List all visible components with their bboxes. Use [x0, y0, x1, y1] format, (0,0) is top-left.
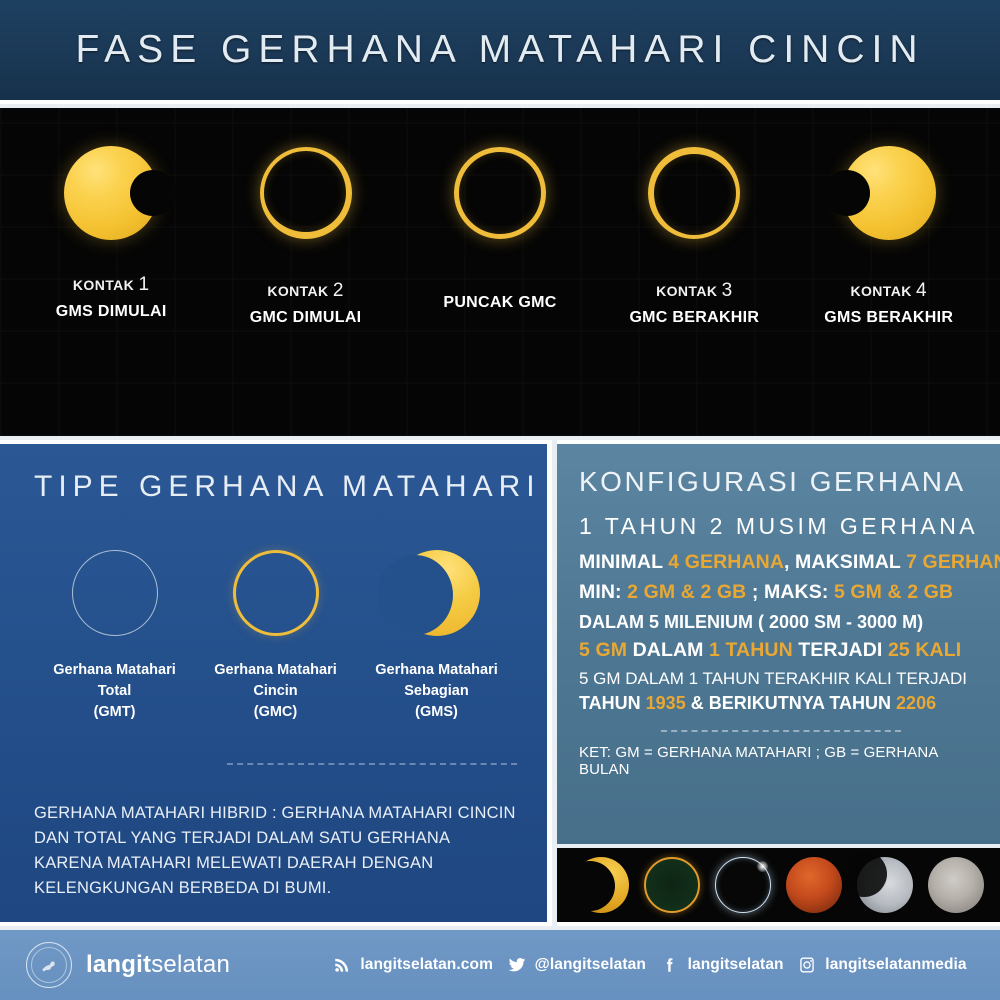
tahun-berikutnya-value: 2206 — [896, 693, 936, 713]
page-title: FASE GERHANA MATAHARI CINCIN — [76, 28, 925, 72]
type-art-gms — [357, 538, 517, 648]
maks-value: 5 GM & 2 GB — [834, 581, 953, 603]
fivegm-tahun: 1 TAHUN — [709, 639, 793, 661]
total-solar-diamond-ring-photo — [715, 857, 771, 913]
phase-caption-5: KONTAK 4 GMS BERAKHIR — [824, 278, 953, 330]
config-line-milenium: DALAM 5 MILENIUM ( 2000 SM - 3000 M) — [579, 611, 982, 634]
sun-partial-bite-icon — [64, 146, 158, 240]
footer-link-twitter[interactable]: @langitselatan — [508, 956, 646, 974]
phase-name-1: GMS DIMULAI — [56, 301, 167, 324]
full-moon-photo — [928, 857, 984, 913]
type-abbr-gmc: (GMC) — [196, 702, 356, 723]
phase-art-1 — [64, 108, 158, 278]
blood-moon-photo — [786, 857, 842, 913]
eclipse-phases-section: KONTAK 1 GMS DIMULAI KONTAK 2 GMC DIMULA… — [0, 108, 1000, 436]
brand-bold: langit — [86, 951, 151, 978]
fivegm-kali: 25 KALI — [888, 639, 961, 661]
phase-caption-4: KONTAK 3 GMC BERAKHIR — [629, 278, 759, 330]
phase-caption-2: KONTAK 2 GMC DIMULAI — [250, 278, 362, 330]
phase-kontak-num-5: 4 — [916, 280, 927, 301]
phase-art-3 — [454, 108, 546, 278]
footer-link-text-twitter: @langitselatan — [535, 956, 646, 974]
footer-links: langitselatan.com @langitselatan langits… — [326, 956, 974, 974]
dashed-divider — [227, 763, 517, 765]
phase-kontak-num-2: 2 — [333, 280, 344, 301]
phase-name-4: GMC BERAKHIR — [629, 307, 759, 330]
footer-link-text-facebook: langitselatan — [688, 956, 784, 974]
config-headline: 1 TAHUN 2 MUSIM GERHANA — [579, 512, 982, 542]
phase-kontak-num-1: 1 — [138, 274, 149, 295]
type-label-gmc: Gerhana Matahari Cincin (GMC) — [196, 660, 356, 723]
annular-ring-photo — [644, 857, 700, 913]
eclipse-types-panel: TIPE GERHANA MATAHARI Gerhana Matahari T… — [0, 440, 552, 926]
phase-art-2 — [260, 108, 352, 278]
hybrid-eclipse-note: GERHANA MATAHARI HIBRID : GERHANA MATAHA… — [34, 801, 517, 901]
type-label-gmt: Gerhana Matahari Total (GMT) — [35, 660, 195, 723]
phase-item-4: KONTAK 3 GMC BERAKHIR — [604, 108, 784, 330]
maks-prefix: ; MAKS: — [746, 581, 834, 603]
config-line-5gm: 5 GM DALAM 1 TAHUN TERJADI 25 KALI — [579, 638, 982, 663]
type-art-gmt — [35, 538, 195, 648]
footer-link-facebook[interactable]: langitselatan — [661, 956, 784, 974]
maksimal-prefix: , MAKSIMAL — [784, 551, 906, 573]
tahun-prefix: TAHUN — [579, 693, 646, 713]
types-panel-title: TIPE GERHANA MATAHARI — [34, 470, 517, 504]
type-name-gms: Gerhana Matahari Sebagian — [357, 660, 517, 702]
phase-item-5: KONTAK 4 GMS BERAKHIR — [799, 108, 979, 330]
phase-art-5 — [842, 108, 936, 278]
infographic-poster: FASE GERHANA MATAHARI CINCIN KONTAK 1 GM… — [0, 0, 1000, 1000]
phase-name-2: GMC DIMULAI — [250, 307, 362, 330]
annular-ring-icon — [648, 147, 740, 239]
facebook-icon — [661, 956, 679, 974]
config-legend-note: KET: GM = GERHANA MATAHARI ; GB = GERHAN… — [579, 744, 982, 778]
phase-kontak-5: KONTAK 4 — [824, 278, 953, 305]
type-item-gmc: Gerhana Matahari Cincin (GMC) — [196, 538, 356, 723]
twitter-icon — [508, 956, 526, 974]
min-value: 2 GM & 2 GB — [627, 581, 746, 603]
fivegm-dalam: DALAM — [627, 639, 709, 661]
berikutnya-prefix: & BERIKUTNYA TAHUN — [686, 693, 896, 713]
partial-lunar-eclipse-photo — [857, 857, 913, 913]
config-panel-title: KONFIGURASI GERHANA — [579, 466, 982, 498]
type-abbr-gmt: (GMT) — [35, 702, 195, 723]
phase-caption-3: PUNCAK GMC — [443, 290, 556, 315]
fivegm-terjadi: TERJADI — [793, 639, 888, 661]
brand-wordmark: langitselatan — [86, 951, 230, 979]
config-line-minimal: MINIMAL 4 GERHANA, MAKSIMAL 7 GERHANA — [579, 550, 982, 575]
eclipse-configuration-panel: KONFIGURASI GERHANA 1 TAHUN 2 MUSIM GERH… — [557, 440, 1000, 844]
type-name-gmt: Gerhana Matahari Total — [35, 660, 195, 702]
annular-ring-icon — [233, 550, 319, 636]
crescent-eclipse-icon — [394, 550, 480, 636]
sun-partial-bite-icon — [842, 146, 936, 240]
type-item-gmt: Gerhana Matahari Total (GMT) — [35, 538, 195, 723]
annular-ring-icon — [454, 147, 546, 239]
footer-link-website[interactable]: langitselatan.com — [333, 956, 493, 974]
phase-art-4 — [648, 108, 740, 278]
horse-rider-glyph-icon — [39, 955, 59, 975]
phase-item-1: KONTAK 1 GMS DIMULAI — [21, 108, 201, 324]
types-row: Gerhana Matahari Total (GMT) Gerhana Mat… — [34, 538, 517, 723]
footer-link-instagram[interactable]: langitselatanmedia — [798, 956, 966, 974]
phase-item-2: KONTAK 2 GMC DIMULAI — [216, 108, 396, 330]
config-line-minmaks: MIN: 2 GM & 2 GB ; MAKS: 5 GM & 2 GB — [579, 580, 982, 605]
annular-crescent-photo — [573, 857, 629, 913]
footer-bar: langitselatan langitselatan.com @langits… — [0, 930, 1000, 1000]
langitselatan-seal-logo-icon — [26, 942, 72, 988]
instagram-icon — [798, 956, 816, 974]
phase-kontak-4: KONTAK 3 — [629, 278, 759, 305]
type-abbr-gms: (GMS) — [357, 702, 517, 723]
brand-block[interactable]: langitselatan — [26, 942, 326, 988]
footer-link-text-website: langitselatan.com — [360, 956, 493, 974]
phase-name-5: GMS BERAKHIR — [824, 307, 953, 330]
minimal-value: 4 GERHANA — [668, 551, 784, 573]
min-prefix: MIN: — [579, 581, 627, 603]
phase-item-3: PUNCAK GMC — [410, 108, 590, 315]
type-label-gms: Gerhana Matahari Sebagian (GMS) — [357, 660, 517, 723]
config-line-terakhir-1: 5 GM DALAM 1 TAHUN TERAKHIR KALI TERJADI — [579, 668, 982, 690]
type-name-gmc: Gerhana Matahari Cincin — [196, 660, 356, 702]
annular-ring-icon — [260, 147, 352, 239]
fivegm-value: 5 GM — [579, 639, 627, 661]
type-art-gmc — [196, 538, 356, 648]
phase-kontak-1: KONTAK 1 — [56, 272, 167, 299]
phase-row: KONTAK 1 GMS DIMULAI KONTAK 2 GMC DIMULA… — [0, 108, 1000, 436]
tahun-terakhir-value: 1935 — [646, 693, 686, 713]
type-item-gms: Gerhana Matahari Sebagian (GMS) — [357, 538, 517, 723]
brand-light: selatan — [151, 951, 230, 978]
config-dashed-divider — [661, 730, 901, 732]
footer-link-text-instagram: langitselatanmedia — [825, 956, 966, 974]
header-banner: FASE GERHANA MATAHARI CINCIN — [0, 0, 1000, 104]
config-line-terakhir-2: TAHUN 1935 & BERIKUTNYA TAHUN 2206 — [579, 692, 982, 715]
maksimal-value: 7 GERHANA — [906, 551, 1000, 573]
total-eclipse-disc-icon — [72, 550, 158, 636]
phase-kontak-2: KONTAK 2 — [250, 278, 362, 305]
phase-caption-1: KONTAK 1 GMS DIMULAI — [56, 272, 167, 324]
rss-icon — [333, 956, 351, 974]
minimal-prefix: MINIMAL — [579, 551, 668, 573]
eclipse-photo-strip — [557, 848, 1000, 926]
phase-kontak-num-4: 3 — [722, 280, 733, 301]
phase-name-3: PUNCAK GMC — [443, 292, 556, 315]
